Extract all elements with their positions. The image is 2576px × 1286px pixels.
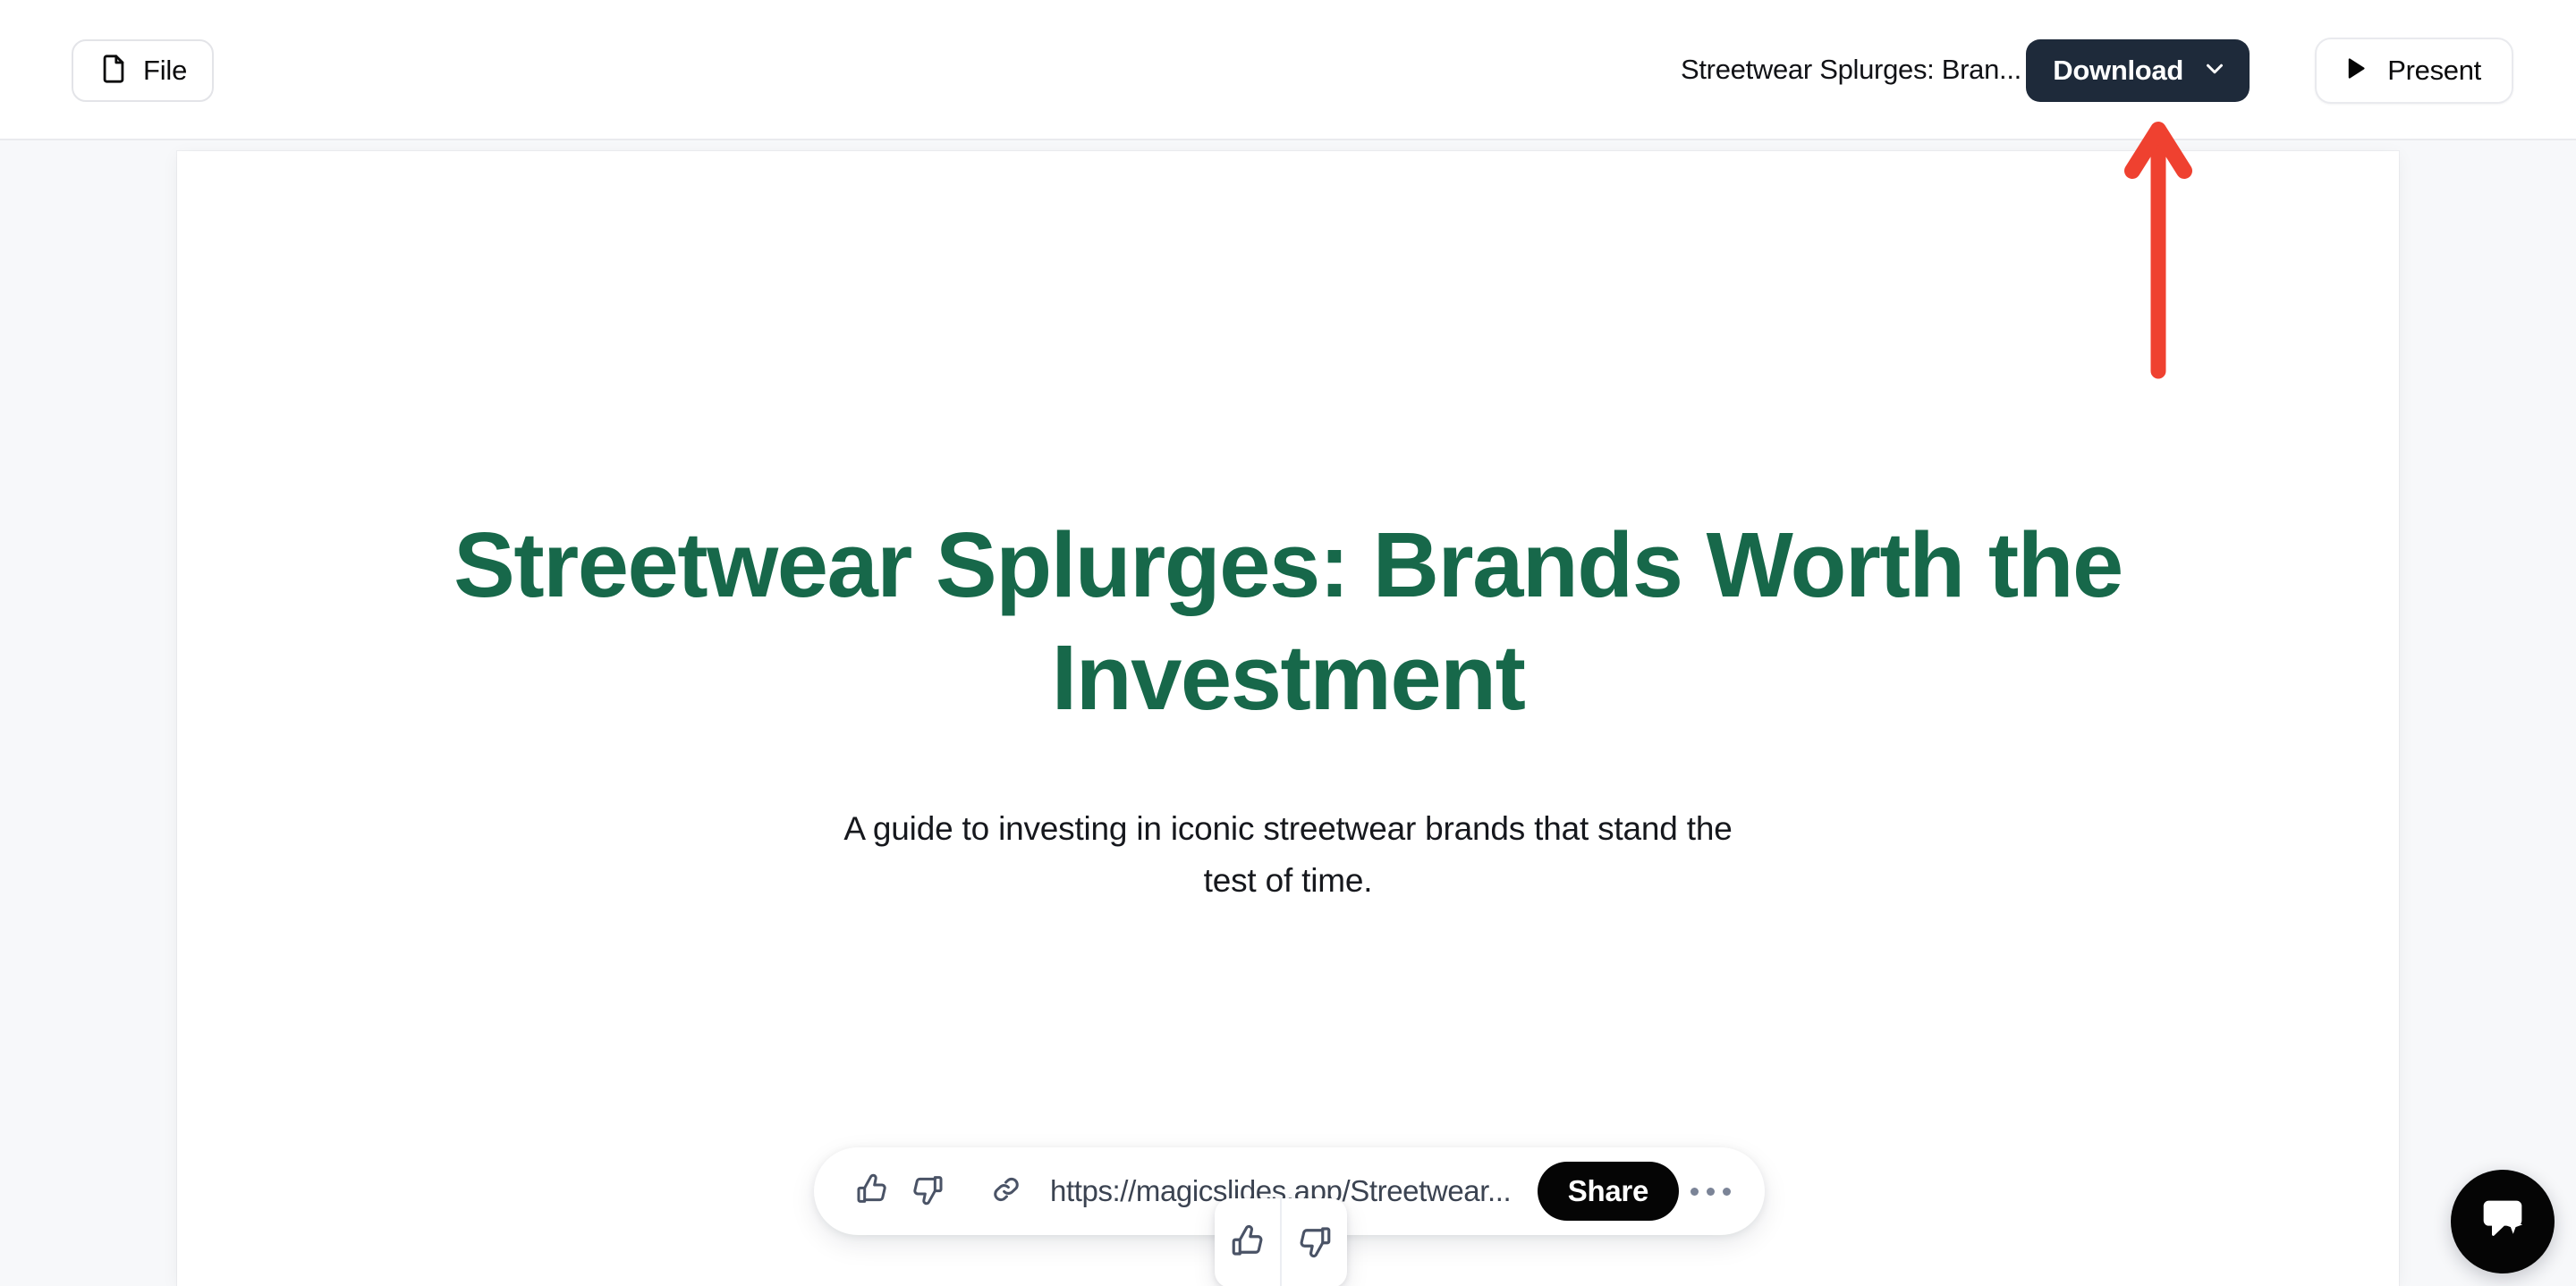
feedback-thumbs-down-button[interactable]: [1282, 1198, 1347, 1286]
download-button-label: Download: [2053, 55, 2183, 87]
present-button[interactable]: Present: [2315, 38, 2513, 104]
thumbs-up-icon: [1229, 1223, 1267, 1265]
share-button[interactable]: Share: [1538, 1162, 1679, 1221]
download-button[interactable]: Download: [2026, 39, 2250, 102]
chat-sparkle-icon: [2474, 1191, 2531, 1253]
file-button[interactable]: File: [72, 39, 214, 102]
link-icon: [989, 1172, 1023, 1211]
present-button-label: Present: [2387, 55, 2481, 87]
feedback-popover: [1215, 1198, 1347, 1286]
chevron-down-icon: [2201, 55, 2228, 87]
top-header-bar: File Streetwear Splurges: Bran... Downlo…: [0, 0, 2576, 140]
thumbs-down-icon: [1296, 1223, 1334, 1265]
file-button-label: File: [143, 55, 187, 87]
share-button-label: Share: [1568, 1174, 1648, 1208]
more-horizontal-icon: [1690, 1188, 1731, 1196]
app-root: File Streetwear Splurges: Bran... Downlo…: [0, 0, 2576, 1286]
slide-title: Streetwear Splurges: Brands Worth the In…: [447, 509, 2129, 733]
thumbs-up-icon: [854, 1172, 890, 1212]
more-options-button[interactable]: [1679, 1188, 1741, 1196]
play-icon: [2342, 55, 2369, 87]
thumbs-down-button[interactable]: [900, 1163, 955, 1219]
file-icon: [98, 54, 129, 89]
thumbs-down-icon: [910, 1172, 945, 1212]
slide-subtitle: A guide to investing in iconic streetwea…: [841, 803, 1735, 906]
copy-link-button[interactable]: [979, 1163, 1034, 1219]
slide-workspace: Streetwear Splurges: Brands Worth the In…: [0, 140, 2576, 1286]
thumbs-up-button[interactable]: [844, 1163, 900, 1219]
document-title: Streetwear Splurges: Bran...: [1681, 54, 2021, 86]
slide-canvas[interactable]: Streetwear Splurges: Brands Worth the In…: [177, 151, 2399, 1286]
ai-chat-button[interactable]: [2451, 1170, 2555, 1273]
feedback-thumbs-up-button[interactable]: [1215, 1198, 1280, 1286]
